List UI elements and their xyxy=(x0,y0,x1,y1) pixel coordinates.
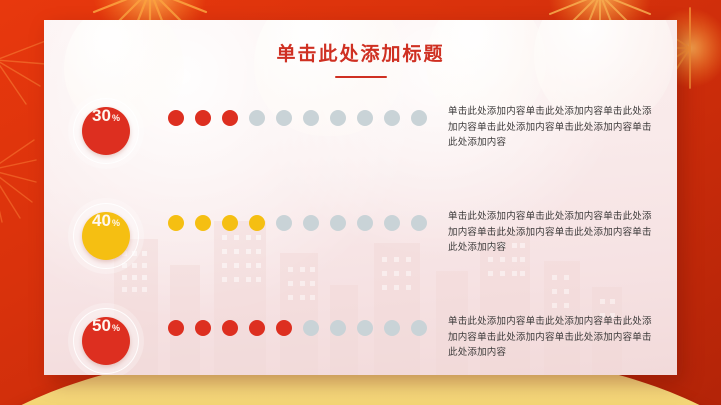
dot-empty xyxy=(330,320,346,336)
dot-empty xyxy=(357,320,373,336)
dot-empty xyxy=(303,215,319,231)
dot-filled xyxy=(222,320,238,336)
percent-symbol: % xyxy=(112,219,120,228)
row-body-text: 单击此处添加内容单击此处添加内容单击此处添加内容单击此处添加内容单击此处添加内容… xyxy=(448,104,653,151)
percent-value: 40 xyxy=(92,212,111,229)
dot-empty xyxy=(384,320,400,336)
dot-filled xyxy=(195,320,211,336)
dot-empty xyxy=(303,320,319,336)
dot-empty xyxy=(411,215,427,231)
row-text-cell[interactable]: 单击此处添加内容单击此处添加内容单击此处添加内容单击此处添加内容单击此处添加内容… xyxy=(440,92,677,151)
percent-badge-ring: 50 % xyxy=(73,308,139,374)
rows-container: 30 % 单 xyxy=(44,92,677,375)
row-text-cell[interactable]: 单击此处添加内容单击此处添加内容单击此处添加内容单击此处添加内容单击此处添加内容… xyxy=(440,302,677,361)
dot-filled xyxy=(168,320,184,336)
stat-row: 50 % 单 xyxy=(44,302,677,375)
percent-symbol: % xyxy=(112,324,120,333)
dot-empty xyxy=(276,110,292,126)
percent-symbol: % xyxy=(112,114,120,123)
dot-empty xyxy=(411,320,427,336)
dot-meter[interactable] xyxy=(168,302,440,336)
percent-badge-cell: 30 % xyxy=(44,92,168,164)
percent-badge[interactable]: 30 % xyxy=(82,107,130,155)
dot-empty xyxy=(303,110,319,126)
dot-filled xyxy=(222,110,238,126)
dot-empty xyxy=(384,110,400,126)
dot-empty xyxy=(330,110,346,126)
dot-filled xyxy=(222,215,238,231)
row-text-cell[interactable]: 单击此处添加内容单击此处添加内容单击此处添加内容单击此处添加内容单击此处添加内容… xyxy=(440,197,677,256)
dot-empty xyxy=(330,215,346,231)
row-body-text: 单击此处添加内容单击此处添加内容单击此处添加内容单击此处添加内容单击此处添加内容… xyxy=(448,314,653,361)
title-underline xyxy=(335,76,387,78)
dot-empty xyxy=(276,215,292,231)
dot-empty xyxy=(357,110,373,126)
dot-empty xyxy=(357,215,373,231)
percent-badge-ring: 30 % xyxy=(73,98,139,164)
dot-filled xyxy=(276,320,292,336)
dot-empty xyxy=(411,110,427,126)
dot-filled xyxy=(249,215,265,231)
page-title: 单击此处添加标题 xyxy=(44,44,677,67)
stat-row: 40 % 单 xyxy=(44,197,677,302)
dot-filled xyxy=(195,215,211,231)
percent-badge-cell: 50 % xyxy=(44,302,168,374)
dot-filled xyxy=(168,110,184,126)
percent-badge[interactable]: 40 % xyxy=(82,212,130,260)
row-body-text: 单击此处添加内容单击此处添加内容单击此处添加内容单击此处添加内容单击此处添加内容… xyxy=(448,209,653,256)
slide-canvas: 单击此处添加标题 30 % xyxy=(0,0,721,405)
percent-value: 50 xyxy=(92,317,111,334)
stat-row: 30 % 单 xyxy=(44,92,677,197)
percent-badge-ring: 40 % xyxy=(73,203,139,269)
dot-empty xyxy=(384,215,400,231)
dot-meter[interactable] xyxy=(168,197,440,231)
dot-meter[interactable] xyxy=(168,92,440,126)
percent-badge[interactable]: 50 % xyxy=(82,317,130,365)
dot-empty xyxy=(249,110,265,126)
percent-badge-cell: 40 % xyxy=(44,197,168,269)
content-panel: 单击此处添加标题 30 % xyxy=(44,20,677,375)
dot-filled xyxy=(168,215,184,231)
dot-filled xyxy=(249,320,265,336)
title-block: 单击此处添加标题 xyxy=(44,44,677,78)
percent-value: 30 xyxy=(92,107,111,124)
dot-filled xyxy=(195,110,211,126)
